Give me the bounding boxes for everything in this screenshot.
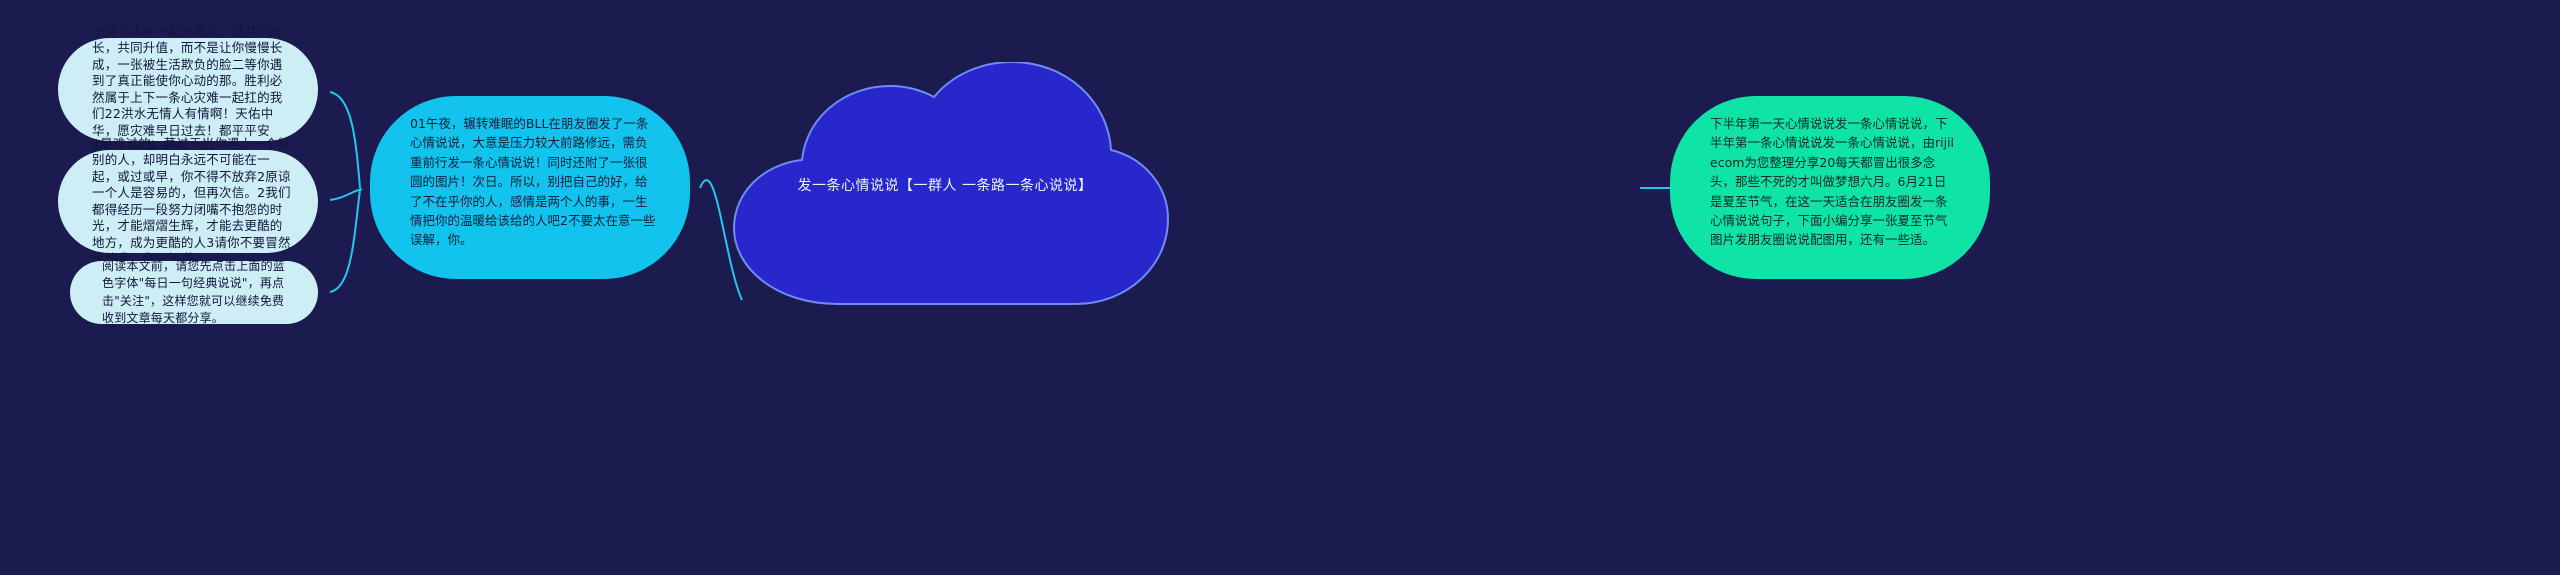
note-card-green[interactable]: 下半年第一天心情说说发一条心情说说，下半年第一条心情说说发一条心情说说，由rij… (1670, 96, 1990, 279)
connector-box-a-to-cyan (330, 92, 360, 188)
note-card-left-2[interactable]: 1最难过的，莫过于当你遇上一个特别的人，却明白永远不可能在一起，或过或早，你不得… (58, 150, 318, 253)
connector-lines (0, 0, 2560, 575)
note-card-cyan-text: 01午夜，辗转难眠的BLL在朋友圈发了一条心情说说，大意是压力较大前路修远，需负… (410, 114, 656, 250)
note-card-left-2-text: 1最难过的，莫过于当你遇上一个特别的人，却明白永远不可能在一起，或过或早，你不得… (92, 136, 292, 268)
note-card-left-1[interactable]: 一两个人在一起的意义，是共同成长，共同升值，而不是让你慢慢长成，一张被生活欺负的… (58, 38, 318, 141)
note-card-green-text: 下半年第一天心情说说发一条心情说说，下半年第一条心情说说发一条心情说说，由rij… (1710, 114, 1956, 250)
connector-box-c-to-cyan (330, 190, 360, 292)
note-card-cyan[interactable]: 01午夜，辗转难眠的BLL在朋友圈发了一条心情说说，大意是压力较大前路修远，需负… (370, 96, 690, 279)
center-cloud-node[interactable]: 发一条心情说说【一群人 一条路一条心说说】 (720, 62, 1170, 312)
mindmap-canvas: 一两个人在一起的意义，是共同成长，共同升值，而不是让你慢慢长成，一张被生活欺负的… (0, 0, 2560, 575)
note-card-left-3[interactable]: 阅读本文前，请您先点击上面的蓝色字体"每日一句经典说说"，再点击"关注"，这样您… (70, 261, 318, 324)
cloud-shape-icon (720, 62, 1170, 312)
connector-box-b-to-cyan (330, 189, 362, 200)
note-card-left-3-text: 阅读本文前，请您先点击上面的蓝色字体"每日一句经典说说"，再点击"关注"，这样您… (102, 258, 294, 328)
